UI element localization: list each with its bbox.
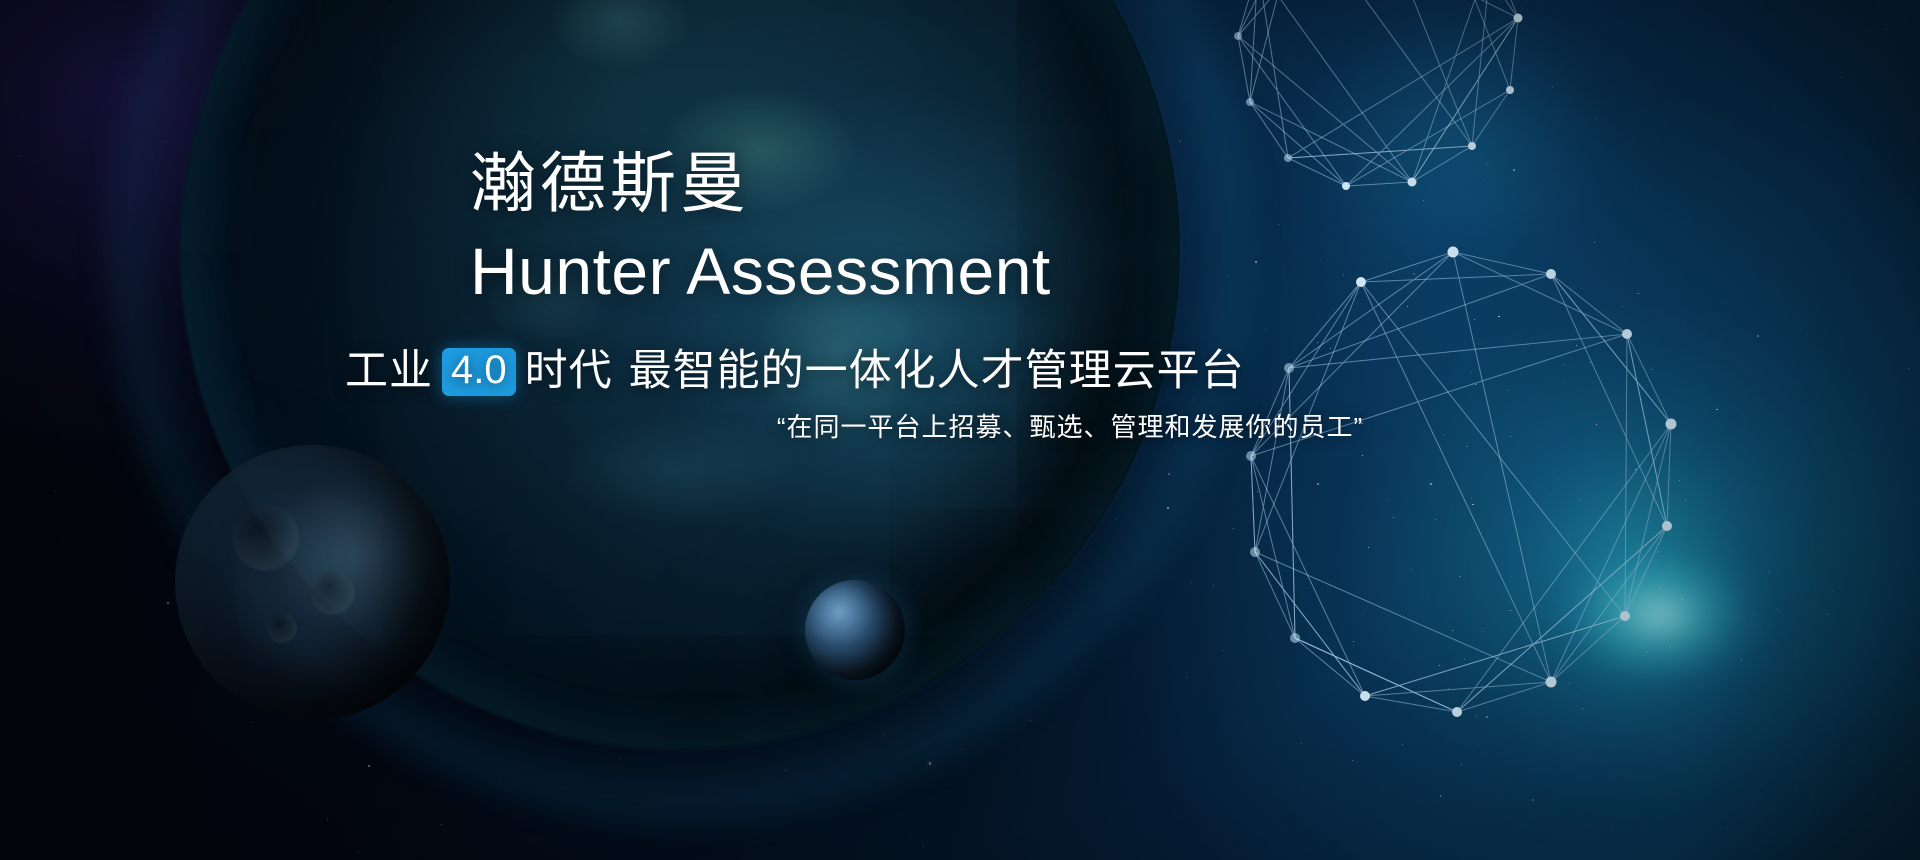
star xyxy=(1706,148,1707,149)
star xyxy=(1806,333,1807,334)
crater xyxy=(311,571,355,615)
star xyxy=(1827,614,1828,615)
tagline-after-platform: 最智能的一体化人才管理云平台 xyxy=(629,348,1245,395)
star xyxy=(1796,787,1797,788)
tagline-before: 工业 xyxy=(345,348,433,395)
star xyxy=(1883,749,1884,750)
star xyxy=(1774,107,1775,108)
star xyxy=(923,846,924,847)
star xyxy=(167,602,169,604)
star xyxy=(327,819,328,820)
star xyxy=(21,155,22,156)
hero-banner: 瀚德斯曼 Hunter Assessment 工业 4.0 时代 最智能的一体化… xyxy=(0,0,1920,860)
tagline: 工业 4.0 时代 最智能的一体化人才管理云平台 xyxy=(345,348,1475,396)
star xyxy=(368,765,370,767)
crater xyxy=(267,613,297,643)
crater xyxy=(233,505,299,571)
version-badge-4-0: 4.0 xyxy=(442,348,516,396)
star xyxy=(1891,13,1892,14)
moon-small xyxy=(805,580,905,680)
hero-subtitle: “在同一平台上招募、甄选、管理和发展你的员工” xyxy=(665,412,1475,443)
star xyxy=(54,491,55,492)
star xyxy=(1812,797,1813,798)
moon-large xyxy=(175,445,450,720)
star xyxy=(1678,155,1679,156)
star xyxy=(1833,591,1834,592)
star xyxy=(1539,846,1540,847)
star xyxy=(441,824,442,825)
page-title-cn: 瀚德斯曼 xyxy=(470,150,1470,216)
hero-content: 瀚德斯曼 Hunter Assessment 工业 4.0 时代 最智能的一体化… xyxy=(470,150,1470,304)
star xyxy=(1886,29,1888,31)
star xyxy=(1841,77,1843,79)
star xyxy=(358,851,359,852)
network-polygon-ring-bottom xyxy=(1185,230,1785,830)
page-title-en: Hunter Assessment xyxy=(470,238,1470,304)
star xyxy=(1908,368,1910,370)
tagline-after-era: 时代 xyxy=(525,348,613,395)
